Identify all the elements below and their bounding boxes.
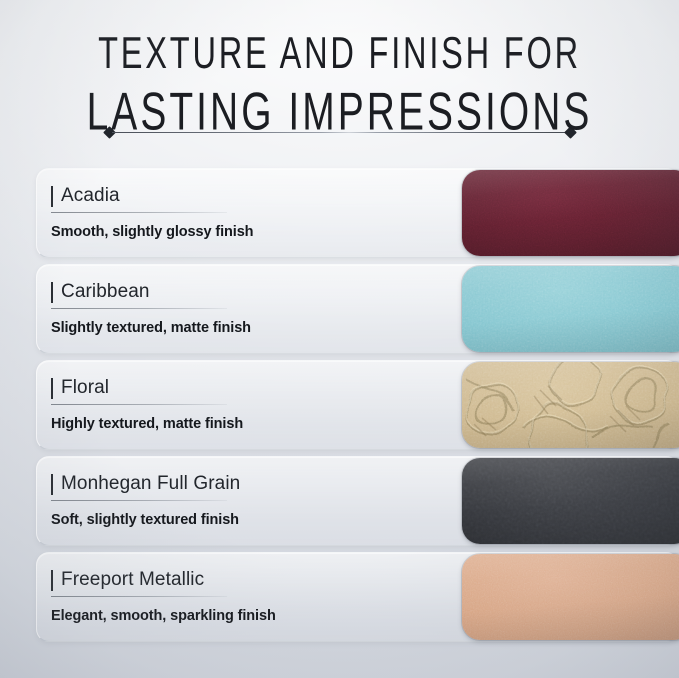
accent-bar-icon: [51, 378, 53, 399]
swatch-sheen: [462, 458, 679, 544]
freeport-metallic-swatch[interactable]: [462, 554, 679, 640]
finish-title-underline: [51, 308, 227, 309]
finish-card-text: Floral Highly textured, matte finish: [51, 375, 518, 432]
finish-row: Caribbean Slightly textured, matte finis…: [0, 261, 679, 357]
finish-title-underline: [51, 596, 227, 597]
page-title-line-2: LASTING IMPRESSIONS: [17, 79, 662, 144]
finish-description: Elegant, smooth, sparkling finish: [51, 608, 518, 624]
finish-title-row: Freeport Metallic: [51, 567, 518, 593]
finish-list: Acadia Smooth, slightly glossy finish Ca…: [0, 165, 679, 645]
infographic-page: TEXTURE AND FINISH FOR LASTING IMPRESSIO…: [0, 0, 679, 678]
finish-description: Soft, slightly textured finish: [51, 512, 518, 528]
finish-name: Monhegan Full Grain: [61, 473, 240, 495]
finish-card-text: Caribbean Slightly textured, matte finis…: [51, 279, 518, 336]
finish-name: Freeport Metallic: [61, 569, 204, 591]
finish-title-underline: [51, 500, 227, 501]
finish-row: Acadia Smooth, slightly glossy finish: [0, 165, 679, 261]
swatch-sheen: [462, 362, 679, 448]
finish-name: Floral: [61, 377, 109, 399]
finish-description: Slightly textured, matte finish: [51, 320, 518, 336]
finish-title-row: Monhegan Full Grain: [51, 471, 518, 497]
finish-description: Smooth, slightly glossy finish: [51, 224, 518, 240]
finish-card-text: Freeport Metallic Elegant, smooth, spark…: [51, 567, 518, 624]
finish-title-row: Floral: [51, 375, 518, 401]
finish-row: Freeport Metallic Elegant, smooth, spark…: [0, 549, 679, 645]
finish-row: Floral Highly textured, matte finish: [0, 357, 679, 453]
finish-description: Highly textured, matte finish: [51, 416, 518, 432]
finish-title-row: Caribbean: [51, 279, 518, 305]
page-title-line-1: TEXTURE AND FINISH FOR: [24, 26, 655, 82]
finish-title-row: Acadia: [51, 183, 518, 209]
accent-bar-icon: [51, 570, 53, 591]
finish-card-text: Monhegan Full Grain Soft, slightly textu…: [51, 471, 518, 528]
finish-name: Acadia: [61, 185, 120, 207]
swatch-sheen: [462, 170, 679, 256]
accent-bar-icon: [51, 282, 53, 303]
finish-title-underline: [51, 404, 227, 405]
floral-swatch[interactable]: [462, 362, 679, 448]
accent-bar-icon: [51, 186, 53, 207]
finish-title-underline: [51, 212, 227, 213]
caribbean-swatch[interactable]: [462, 266, 679, 352]
acadia-swatch[interactable]: [462, 170, 679, 256]
finish-name: Caribbean: [61, 281, 150, 303]
finish-card-text: Acadia Smooth, slightly glossy finish: [51, 183, 518, 240]
swatch-sheen: [462, 266, 679, 352]
monhegan-full-grain-swatch[interactable]: [462, 458, 679, 544]
finish-row: Monhegan Full Grain Soft, slightly textu…: [0, 453, 679, 549]
accent-bar-icon: [51, 474, 53, 495]
page-header: TEXTURE AND FINISH FOR LASTING IMPRESSIO…: [0, 0, 679, 129]
swatch-sheen: [462, 554, 679, 640]
